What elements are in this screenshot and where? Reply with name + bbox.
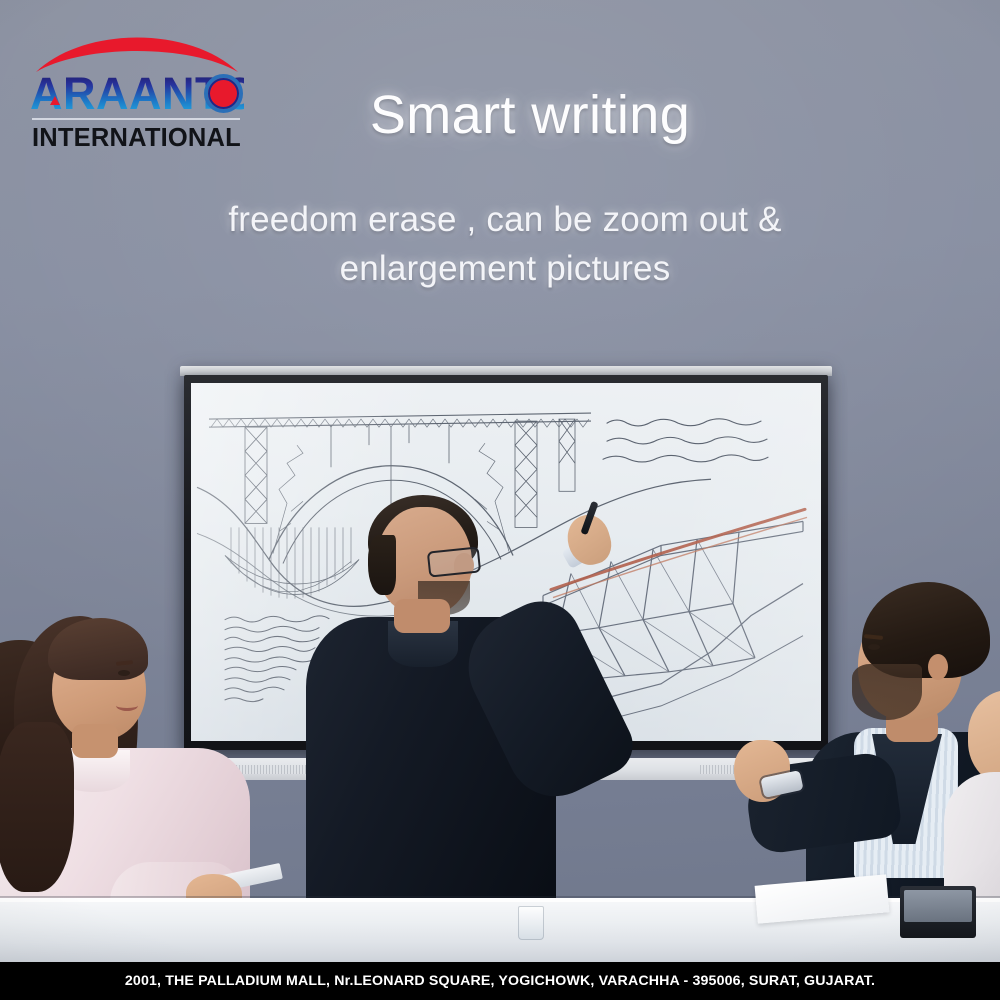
drinking-glass: [518, 906, 544, 940]
eyeglasses-icon: [427, 546, 481, 577]
neck: [72, 724, 118, 758]
conference-device: [900, 886, 976, 938]
page-title: Smart writing: [0, 84, 1000, 146]
beard: [852, 664, 922, 720]
neck: [394, 599, 450, 633]
eye: [868, 644, 880, 650]
attendee-woman-front-left: [0, 612, 290, 942]
hair-fall: [0, 722, 74, 892]
ear: [928, 654, 948, 680]
footer-address-text: 2001, THE PALLADIUM MALL, Nr.LEONARD SQU…: [125, 973, 875, 989]
eye: [118, 670, 130, 676]
smile: [116, 700, 138, 711]
device-screen: [904, 890, 972, 922]
subtitle-line-2: enlargement pictures: [0, 249, 1000, 289]
subtitle-line-1: freedom erase , can be zoom out &: [0, 200, 1000, 240]
footer-address-bar: 2001, THE PALLADIUM MALL, Nr.LEONARD SQU…: [0, 962, 1000, 1000]
presenter-at-whiteboard: [268, 495, 628, 935]
poster-canvas: ARAANTO INTERNATIONAL Smart writing free…: [0, 0, 1000, 1000]
hair-side: [368, 535, 396, 595]
